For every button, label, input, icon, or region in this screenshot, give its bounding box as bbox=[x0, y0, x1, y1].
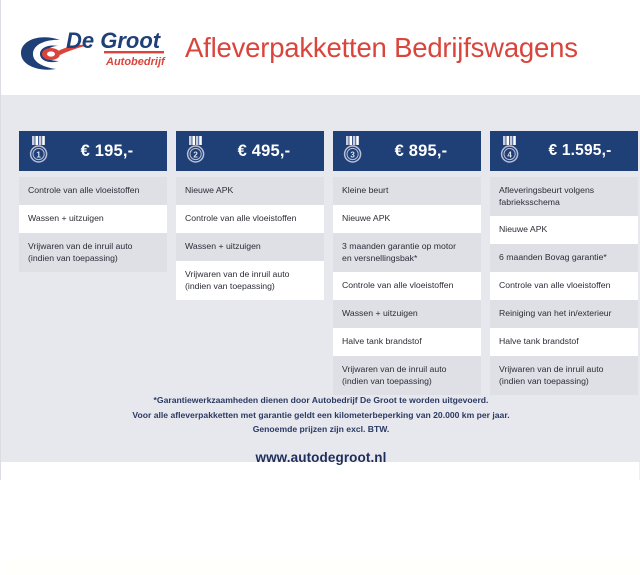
list-item-label: Nieuwe APK bbox=[499, 224, 547, 236]
list-item-label: Wassen + uitzuigen bbox=[342, 308, 418, 320]
list-item-label: Nieuwe APK bbox=[185, 185, 233, 197]
svg-text:1: 1 bbox=[36, 150, 41, 159]
svg-text:De Groot: De Groot bbox=[66, 28, 162, 53]
svg-text:Autobedrijf: Autobedrijf bbox=[105, 56, 166, 68]
package-column-2: 2€ 495,-Nieuwe APKControle van alle vloe… bbox=[176, 131, 324, 300]
de-groot-logo-icon: De Groot Autobedrijf bbox=[18, 20, 168, 76]
list-item-label: Controle van alle vloeistoffen bbox=[28, 185, 139, 197]
package-header-3: 3€ 895,- bbox=[333, 131, 481, 171]
medal-icon: 4 bbox=[498, 135, 522, 165]
svg-text:4: 4 bbox=[507, 150, 512, 159]
package-header-4: 4€ 1.595,- bbox=[490, 131, 638, 171]
svg-text:2: 2 bbox=[193, 150, 198, 159]
list-item-label: Controle van alle vloeistoffen bbox=[185, 213, 296, 225]
list-item: Halve tank brandstof bbox=[490, 328, 638, 356]
package-column-4: 4€ 1.595,-Afleveringsbeurt volgensfabrie… bbox=[490, 131, 638, 395]
list-item-label: Vrijwaren van de inruil auto(indien van … bbox=[342, 364, 446, 387]
packages-panel: 1€ 195,-Controle van alle vloeistoffenWa… bbox=[1, 95, 640, 462]
footer-line-2: Voor alle afleverpakketten met garantie … bbox=[1, 408, 640, 423]
list-item: Vrijwaren van de inruil auto(indien van … bbox=[19, 233, 167, 272]
list-item: 6 maanden Bovag garantie* bbox=[490, 244, 638, 272]
list-item: Vrijwaren van de inruil auto(indien van … bbox=[176, 261, 324, 300]
list-item-label: Afleveringsbeurt volgensfabrieksschema bbox=[499, 185, 594, 208]
list-item: Nieuwe APK bbox=[333, 205, 481, 233]
page-title: Afleverpakketten Bedrijfswagens bbox=[185, 32, 578, 64]
footer: *Garantiewerkzaamheden dienen door Autob… bbox=[1, 393, 640, 465]
list-item-label: Controle van alle vloeistoffen bbox=[342, 280, 453, 292]
package-item-list-4: Afleveringsbeurt volgensfabrieksschemaNi… bbox=[490, 177, 638, 395]
list-item: Wassen + uitzuigen bbox=[176, 233, 324, 261]
package-item-list-3: Kleine beurtNieuwe APK3 maanden garantie… bbox=[333, 177, 481, 395]
packages-columns: 1€ 195,-Controle van alle vloeistoffenWa… bbox=[1, 131, 640, 395]
package-price: € 495,- bbox=[210, 142, 324, 161]
list-item: Vrijwaren van de inruil auto(indien van … bbox=[490, 356, 638, 395]
list-item-label: Kleine beurt bbox=[342, 185, 388, 197]
package-header-2: 2€ 495,- bbox=[176, 131, 324, 171]
list-item-label: Vrijwaren van de inruil auto(indien van … bbox=[499, 364, 603, 387]
list-item: Wassen + uitzuigen bbox=[19, 205, 167, 233]
list-item: Kleine beurt bbox=[333, 177, 481, 205]
list-item: Nieuwe APK bbox=[490, 216, 638, 244]
package-price: € 1.595,- bbox=[524, 142, 638, 160]
list-item: Controle van alle vloeistoffen bbox=[333, 272, 481, 300]
list-item: Controle van alle vloeistoffen bbox=[19, 177, 167, 205]
list-item: Afleveringsbeurt volgensfabrieksschema bbox=[490, 177, 638, 216]
medal-icon: 3 bbox=[341, 135, 365, 165]
list-item: Halve tank brandstof bbox=[333, 328, 481, 356]
package-price: € 895,- bbox=[367, 142, 481, 161]
list-item-label: Controle van alle vloeistoffen bbox=[499, 280, 610, 292]
list-item: Controle van alle vloeistoffen bbox=[490, 272, 638, 300]
list-item-label: Wassen + uitzuigen bbox=[28, 213, 104, 225]
list-item-label: Halve tank brandstof bbox=[342, 336, 422, 348]
list-item: 3 maanden garantie op motoren versnellin… bbox=[333, 233, 481, 272]
list-item-label: Wassen + uitzuigen bbox=[185, 241, 261, 253]
list-item: Vrijwaren van de inruil auto(indien van … bbox=[333, 356, 481, 395]
list-item-label: Vrijwaren van de inruil auto(indien van … bbox=[185, 269, 289, 292]
website-link[interactable]: www.autodegroot.nl bbox=[1, 450, 640, 465]
package-price: € 195,- bbox=[53, 142, 167, 161]
bottom-white-strip bbox=[1, 557, 640, 575]
list-item-label: Halve tank brandstof bbox=[499, 336, 579, 348]
package-item-list-2: Nieuwe APKControle van alle vloeistoffen… bbox=[176, 177, 324, 300]
list-item: Controle van alle vloeistoffen bbox=[176, 205, 324, 233]
medal-icon: 2 bbox=[184, 135, 208, 165]
package-item-list-1: Controle van alle vloeistoffenWassen + u… bbox=[19, 177, 167, 272]
list-item-label: Vrijwaren van de inruil auto(indien van … bbox=[28, 241, 132, 264]
list-item-label: 3 maanden garantie op motoren versnellin… bbox=[342, 241, 456, 264]
company-logo: De Groot Autobedrijf bbox=[1, 0, 179, 95]
list-item: Nieuwe APK bbox=[176, 177, 324, 205]
svg-text:3: 3 bbox=[350, 150, 355, 159]
footer-line-3: Genoemde prijzen zijn excl. BTW. bbox=[1, 422, 640, 437]
list-item-label: 6 maanden Bovag garantie* bbox=[499, 252, 607, 264]
package-header-1: 1€ 195,- bbox=[19, 131, 167, 171]
page-header: De Groot Autobedrijf Afleverpakketten Be… bbox=[1, 0, 640, 95]
list-item-label: Nieuwe APK bbox=[342, 213, 390, 225]
footer-line-1: *Garantiewerkzaamheden dienen door Autob… bbox=[1, 393, 640, 408]
medal-icon: 1 bbox=[27, 135, 51, 165]
list-item: Wassen + uitzuigen bbox=[333, 300, 481, 328]
list-item-label: Reiniging van het in/exterieur bbox=[499, 308, 612, 320]
package-column-1: 1€ 195,-Controle van alle vloeistoffenWa… bbox=[19, 131, 167, 272]
package-column-3: 3€ 895,-Kleine beurtNieuwe APK3 maanden … bbox=[333, 131, 481, 395]
list-item: Reiniging van het in/exterieur bbox=[490, 300, 638, 328]
poster-page: De Groot Autobedrijf Afleverpakketten Be… bbox=[0, 0, 640, 480]
